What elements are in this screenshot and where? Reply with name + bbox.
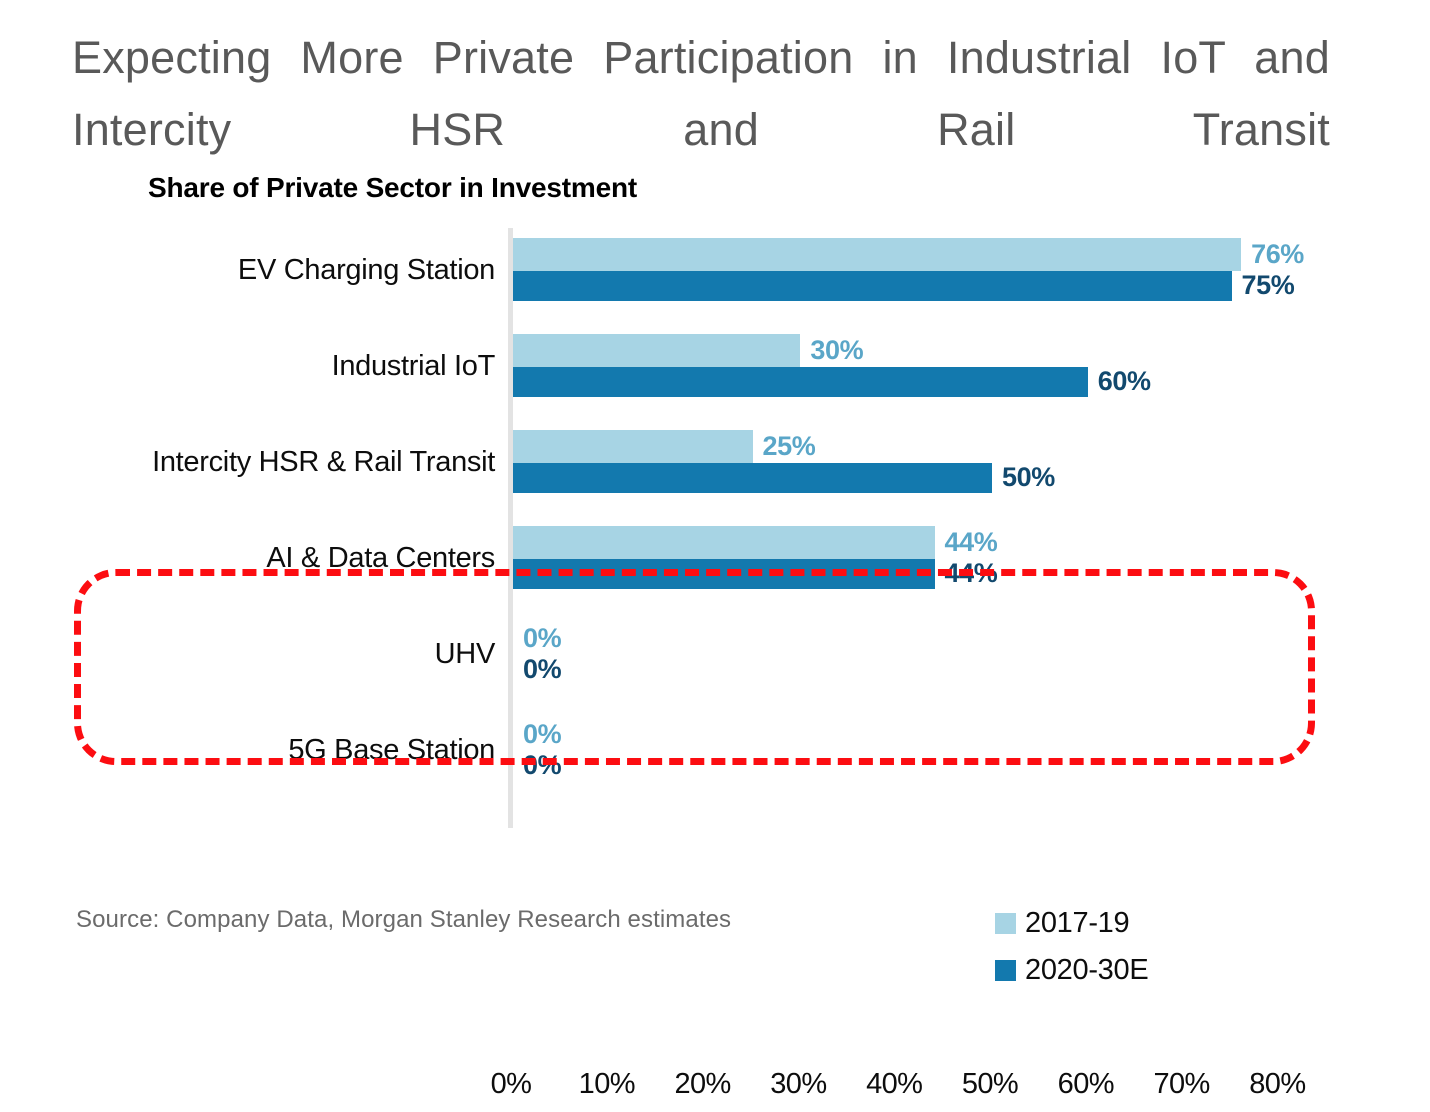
bar-value-2020-30e: 44% bbox=[945, 558, 998, 589]
bar-value-2020-30e: 60% bbox=[1098, 366, 1151, 397]
chart-row: 5G Base Station 0% 0% bbox=[0, 708, 1430, 804]
source-note: Source: Company Data, Morgan Stanley Res… bbox=[76, 906, 731, 934]
x-axis: 0% 10% 20% 30% 40% 50% 60% 70% 80% bbox=[0, 1068, 1430, 1112]
legend-label: 2017-19 bbox=[1025, 907, 1129, 940]
bar-value-2020-30e: 75% bbox=[1242, 270, 1295, 301]
bar-value-2017-19: 30% bbox=[810, 334, 863, 365]
chart-row: EV Charging Station 76% 75% bbox=[0, 228, 1430, 324]
bar-value-2020-30e: 0% bbox=[523, 750, 561, 781]
bar-2017-19[interactable] bbox=[513, 430, 753, 463]
bar-value-2017-19: 0% bbox=[523, 622, 561, 653]
chart-row: AI & Data Centers 44% 44% bbox=[0, 516, 1430, 612]
category-label: UHV bbox=[0, 638, 495, 671]
bar-value-2017-19: 76% bbox=[1251, 238, 1304, 269]
bar-value-2017-19: 44% bbox=[945, 526, 998, 557]
x-tick-label: 80% bbox=[1217, 1068, 1337, 1101]
bar-2017-19[interactable] bbox=[513, 526, 935, 559]
bar-2020-30e[interactable] bbox=[513, 463, 992, 493]
category-label: 5G Base Station bbox=[0, 734, 495, 767]
chart-row: UHV 0% 0% bbox=[0, 612, 1430, 708]
bar-value-2017-19: 25% bbox=[763, 430, 816, 461]
legend-item-2017-19[interactable]: 2017-19 bbox=[995, 900, 1148, 947]
chart-title: Share of Private Sector in Investment bbox=[148, 172, 637, 204]
category-label: Intercity HSR & Rail Transit bbox=[0, 446, 495, 479]
bar-2017-19[interactable] bbox=[513, 238, 1241, 271]
bar-value-2020-30e: 50% bbox=[1002, 462, 1055, 493]
bar-2017-19[interactable] bbox=[513, 334, 800, 367]
bar-2020-30e[interactable] bbox=[513, 559, 935, 589]
legend-swatch-icon bbox=[995, 913, 1016, 934]
chart-plot-area: EV Charging Station 76% 75% Industrial I… bbox=[0, 228, 1430, 828]
category-label: Industrial IoT bbox=[0, 350, 495, 383]
bar-value-2017-19: 0% bbox=[523, 718, 561, 749]
chart-legend: 2017-19 2020-30E bbox=[995, 900, 1148, 994]
chart-row: Industrial IoT 30% 60% bbox=[0, 324, 1430, 420]
bar-value-2020-30e: 0% bbox=[523, 654, 561, 685]
chart-row: Intercity HSR & Rail Transit 25% 50% bbox=[0, 420, 1430, 516]
category-label: AI & Data Centers bbox=[0, 542, 495, 575]
bar-2020-30e[interactable] bbox=[513, 367, 1088, 397]
category-label: EV Charging Station bbox=[0, 254, 495, 287]
bar-2020-30e[interactable] bbox=[513, 271, 1232, 301]
page-title: Expecting More Private Participation in … bbox=[72, 22, 1330, 238]
